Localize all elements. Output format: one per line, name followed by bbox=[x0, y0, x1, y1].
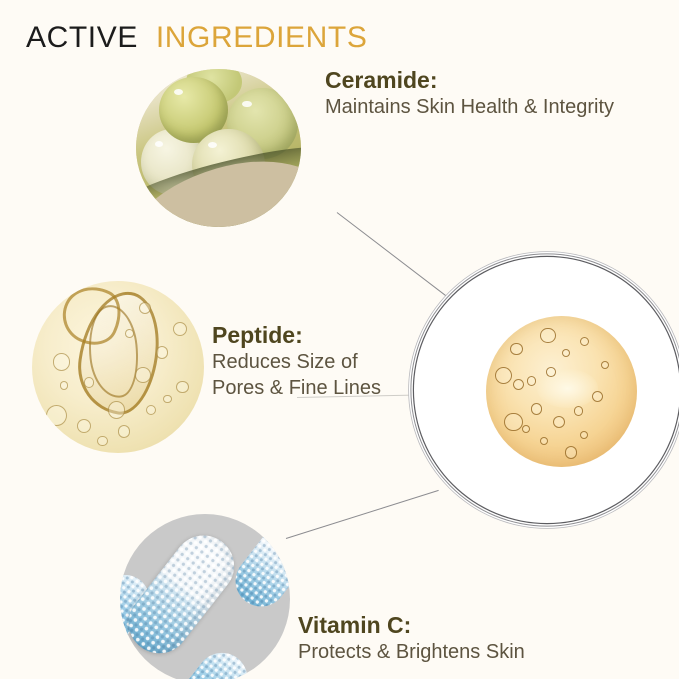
callout-ceramide: Ceramide: Maintains Skin Health & Integr… bbox=[325, 66, 614, 121]
peptide-bubble bbox=[46, 405, 67, 426]
ceramide-swatch-image bbox=[136, 69, 301, 227]
title-word-active: ACTIVE bbox=[26, 21, 138, 54]
droplet-bubble bbox=[601, 361, 609, 369]
peptide-description-line-2: Pores & Fine Lines bbox=[212, 376, 381, 402]
droplet-bubble bbox=[562, 349, 570, 357]
peptide-bubble bbox=[97, 436, 108, 447]
peptide-swatch-image bbox=[32, 281, 204, 453]
droplet-bubble bbox=[527, 376, 537, 386]
vitamin-c-description-line-1: Protects & Brightens Skin bbox=[298, 640, 525, 666]
droplet-bubble bbox=[580, 431, 588, 439]
peptide-bubble bbox=[125, 329, 134, 338]
petri-dish-hero-image bbox=[414, 257, 679, 523]
droplet-bubble bbox=[531, 403, 542, 414]
serum-droplet bbox=[486, 316, 638, 468]
peptide-bubble bbox=[84, 377, 95, 388]
droplet-bubble bbox=[574, 406, 584, 416]
peptide-bubble bbox=[118, 425, 130, 437]
vitamin-c-capsule bbox=[226, 514, 290, 617]
peptide-bubble bbox=[173, 322, 187, 336]
peptide-bubble bbox=[139, 302, 151, 314]
page-title: ACTIVE INGREDIENTS bbox=[26, 23, 367, 53]
vitamin-c-swatch-image bbox=[120, 514, 290, 679]
droplet-bubble bbox=[546, 367, 556, 377]
droplet-bubble bbox=[513, 379, 524, 390]
droplet-bubble bbox=[592, 391, 603, 402]
peptide-bubble bbox=[156, 346, 168, 358]
ceramide-heading: Ceramide: bbox=[325, 66, 614, 95]
title-word-ingredients: INGREDIENTS bbox=[156, 21, 368, 54]
peptide-bubble bbox=[53, 353, 70, 370]
peptide-bubble bbox=[60, 381, 69, 390]
droplet-bubble bbox=[504, 413, 523, 432]
droplet-bubble bbox=[553, 416, 566, 429]
peptide-heading: Peptide: bbox=[212, 321, 381, 350]
droplet-bubble bbox=[540, 437, 548, 445]
droplet-bubble bbox=[522, 425, 530, 433]
active-ingredients-infographic: ACTIVE INGREDIENTS Ceramide: Maintains S… bbox=[0, 0, 679, 679]
droplet-bubble bbox=[565, 446, 578, 459]
peptide-description-line-1: Reduces Size of bbox=[212, 350, 381, 376]
callout-vitamin-c: Vitamin C: Protects & Brightens Skin bbox=[298, 611, 525, 666]
peptide-bubble bbox=[135, 367, 151, 383]
peptide-bubble bbox=[108, 401, 125, 418]
ceramide-description-line-1: Maintains Skin Health & Integrity bbox=[325, 95, 614, 121]
peptide-bubble bbox=[163, 395, 172, 404]
peptide-bubble bbox=[176, 381, 188, 393]
droplet-bubble bbox=[495, 367, 512, 384]
callout-peptide: Peptide: Reduces Size of Pores & Fine Li… bbox=[212, 321, 381, 402]
droplet-bubble bbox=[580, 337, 590, 347]
droplet-bubble bbox=[510, 343, 523, 356]
vitamin-c-capsule bbox=[169, 643, 257, 679]
connector-vitaminc-to-dish bbox=[286, 490, 439, 539]
droplet-bubble bbox=[540, 328, 556, 344]
vitamin-c-heading: Vitamin C: bbox=[298, 611, 525, 640]
peptide-bubble bbox=[77, 419, 91, 433]
peptide-bubble bbox=[146, 405, 157, 416]
connector-ceramide-to-dish bbox=[337, 212, 453, 301]
